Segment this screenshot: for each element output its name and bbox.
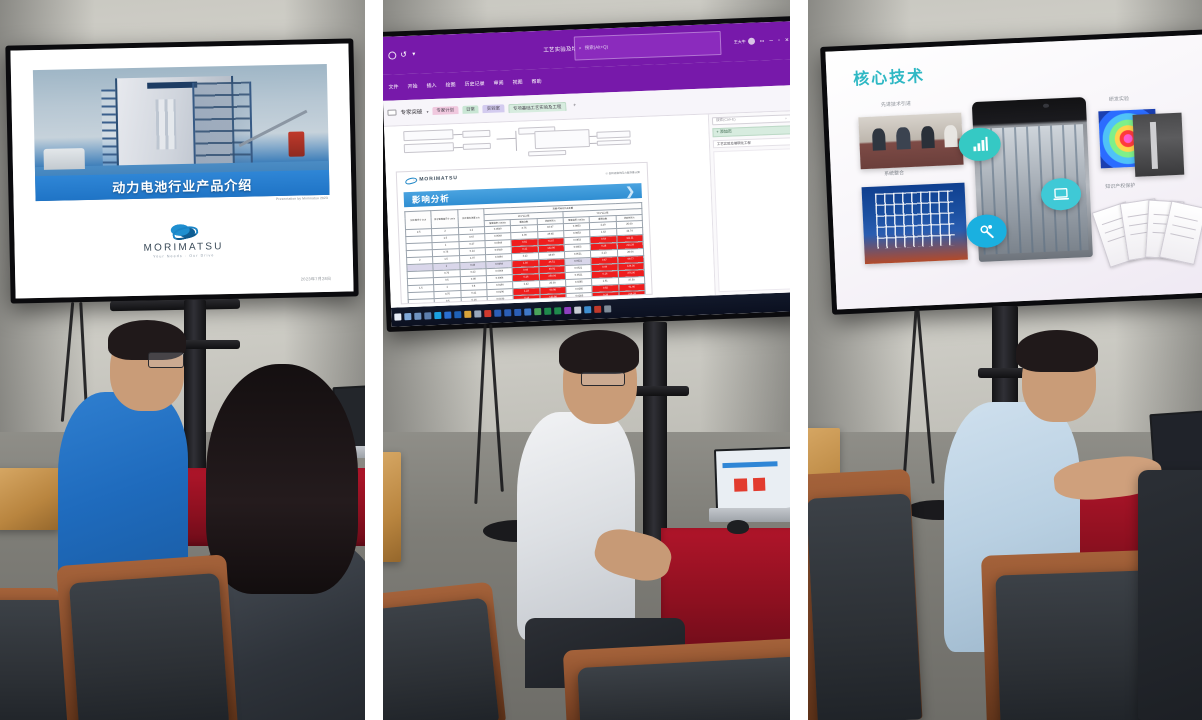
quick-access-toolbar[interactable]: ↺ ▾ [385,50,420,59]
mindmap-node[interactable] [596,139,630,146]
photo-icon[interactable] [584,306,591,313]
section-tab-1[interactable]: 日常 [461,106,478,115]
laptop-lid-2 [713,447,790,512]
mindmap-connector [590,143,596,144]
slide-section-title: 影响分析 [411,192,449,205]
section-tab-0[interactable]: 专家计划 [432,106,458,115]
mindmap-node[interactable] [462,130,490,137]
bar-chart-icon [968,134,992,153]
wooden-cabinet [0,468,60,530]
mindmap-connector [496,138,515,139]
display-screen-3: 核心技术 先进技术引进 系统整合 研发实验 知识产权保护 [825,35,1202,310]
embedded-slide-image[interactable]: MORIMATSU Your Needs · Our Drive ※ 各种规格的… [395,162,653,304]
steel-frame [875,191,955,249]
section-tab-3-active[interactable]: 专项基础工艺实验及工程 [507,102,566,113]
storage-tank [43,148,85,170]
cert-line [1170,233,1194,239]
wall-display: 动力电池行业产品介绍 Presentation by Morimatsu 202… [5,38,358,303]
meeting-figure [896,127,910,149]
morimatsu-logo: MORIMATSU Your Needs · Our Drive [14,217,353,261]
app-icon[interactable] [594,306,601,313]
edge-icon[interactable] [434,312,441,319]
search-placeholder: 搜索(Alt+Q) [584,44,608,51]
excel-icon[interactable] [544,308,551,315]
wall-display-2: ↺ ▾ 工艺实验及增稠化工程 - OneNote ⌕ 搜索(Alt+Q) 王大牛 [383,16,791,332]
meeting-figure [943,125,957,147]
download-icon[interactable] [524,308,531,315]
mindmap-node[interactable] [403,129,453,141]
ribbon-options-icon[interactable]: ▭ [759,38,764,44]
menu-item-home[interactable]: 开始 [407,83,417,90]
crane-body [288,131,305,157]
slide-photo-plant: 动力电池行业产品介绍 [33,64,330,202]
cortana-icon[interactable] [424,312,431,319]
crane [231,104,309,158]
col-header-pipe-size: 排水管尺寸 inch [404,211,431,230]
page-search-placeholder: 搜索(Ctrl+E) [715,118,735,124]
browser-icon[interactable] [574,307,581,314]
mindmap-connector [515,131,516,151]
mindmap-node[interactable] [596,130,630,138]
taskbar-spacer [614,302,787,309]
onenote-search-box[interactable]: ⌕ 搜索(Alt+Q) [573,31,721,60]
label-ip-protection: 知识产权保护 [1105,182,1135,190]
panel-divider-2 [796,0,802,720]
search-icon[interactable] [404,313,411,320]
building-windows [155,99,176,150]
building-roof [147,82,197,89]
morimatsu-wordmark: MORIMATSU [143,241,223,254]
slide-core-technology: 核心技术 先进技术引进 系统整合 研发实验 知识产权保护 [825,35,1202,310]
more-icon[interactable]: ▾ [412,50,420,58]
chevron-right-icon: ❯ [625,184,636,197]
morimatsu-tagline: Your Needs · Our Drive [153,253,214,258]
table-cell: 0.0190 [487,296,514,304]
window-controls[interactable]: 王大牛 ▭ ─ ▫ ✕ [733,37,788,46]
panel-title-slide: 动力电池行业产品介绍 Presentation by Morimatsu 202… [0,0,365,720]
label-advanced-tech: 先进技术引进 [881,100,911,108]
display-screen-2: ↺ ▾ 工艺实验及增稠化工程 - OneNote ⌕ 搜索(Alt+Q) 王大牛 [383,21,791,327]
image-certificates [1098,195,1200,266]
excel-icon[interactable] [554,307,561,314]
pdf-icon[interactable] [484,310,491,317]
table-cell: 214.29 [618,291,645,299]
label-system-integration: 系统整合 [884,170,904,178]
add-page-button[interactable]: + 添加页 [712,125,790,137]
laptop-icon [1050,185,1073,204]
mindmap-connector [590,136,596,137]
menu-item-help[interactable]: 帮助 [531,78,541,85]
slide-title: 动力电池行业产品介绍 Presentation by Morimatsu 202… [10,43,353,298]
wall-display-3: 核心技术 先进技术引进 系统整合 研发实验 知识产权保护 [820,29,1202,314]
table-cell: 0.44 [513,295,540,303]
wooden-cabinet-2 [383,452,401,562]
slide-credit: Presentation by Morimatsu 2023 [276,196,328,201]
meeting-figure [872,129,886,151]
bluetooth-icon[interactable] [444,312,451,319]
presenter-glasses-icon [581,372,625,386]
mindmap-sketch [390,116,702,168]
onenote-window: ↺ ▾ 工艺实验及增稠化工程 - OneNote ⌕ 搜索(Alt+Q) 王大牛 [383,21,791,327]
add-page-label: + 添加页 [716,129,732,136]
search-icon[interactable]: ⌕ [784,116,786,120]
start-icon[interactable] [394,313,401,320]
mouse[interactable] [727,520,749,534]
display-mount-shelf-2 [631,386,689,396]
cert-line [1172,225,1196,231]
mindmap-node-main[interactable] [533,129,590,149]
mindmap-node[interactable] [528,150,565,157]
table-cell: 0.0285 [566,293,593,301]
table-cell: 0.14 [460,297,487,304]
user-hair [1016,330,1098,372]
slide-date: 2023年7月28日 [301,276,332,283]
image-meeting [859,113,964,169]
display-screen: 动力电池行业产品介绍 Presentation by Morimatsu 202… [10,43,353,298]
panel-divider-1 [371,0,377,720]
phone-camera-icon [1043,104,1049,108]
label-rnd-experiment: 研发实验 [1109,95,1129,103]
section-tab-2[interactable]: 实验室 [482,105,503,114]
maximize-icon[interactable]: ▫ [777,37,779,43]
app-icon[interactable] [604,305,611,312]
chair-left-3 [808,493,922,720]
col-header-velocity: 排水管内流速 m/s [457,209,484,228]
image-lab-equipment [1133,113,1185,177]
page-sidebar: 搜索(Ctrl+E) ⌕ + 添加页 工艺实验及增稠化工程 [707,111,790,295]
menu-item-view[interactable]: 视图 [512,79,522,86]
undo-icon[interactable]: ↺ [400,51,408,59]
avatar[interactable] [747,38,754,45]
menu-item-review[interactable]: 审阅 [493,80,503,87]
search-icon: ⌕ [578,45,581,51]
chair-far-right-3 [1138,470,1202,720]
mindmap-connector [453,134,462,135]
menu-item-history[interactable]: 历史记录 [464,80,484,88]
taskbar-clock[interactable]: 15:52 [790,300,791,304]
chair-left-2 [383,598,499,720]
word-icon[interactable] [494,310,501,317]
table-cell: 0.29 [592,292,619,300]
photo-triptych: 动力电池行业产品介绍 Presentation by Morimatsu 202… [0,0,1202,720]
chevron-down-icon[interactable]: ▾ [426,109,428,114]
laptop-screen-bar [722,462,777,469]
cert-line [1174,216,1198,222]
man-glasses-icon [148,352,184,368]
laptop-screen-highlight [752,477,765,490]
table-cell: 0.5 [434,298,461,304]
add-section-button[interactable]: + [570,103,579,109]
wechat-icon[interactable] [534,308,541,315]
word-icon[interactable] [514,309,521,316]
slide-header-note: ※ 各种规格的压力差异量计算 [605,170,640,175]
meeting-figure [921,126,935,148]
menu-item-file[interactable]: 文件 [388,84,398,91]
menu-item-insert[interactable]: 插入 [426,82,436,89]
menu-item-draw[interactable]: 绘图 [445,81,455,88]
save-icon[interactable] [388,51,396,59]
lab-rig [1150,122,1158,169]
note-canvas[interactable]: MORIMATSU Your Needs · Our Drive ※ 各种规格的… [384,114,715,308]
panel-core-technology: 核心技术 先进技术引进 系统整合 研发实验 知识产权保护 [808,0,1202,720]
page-search-input[interactable]: 搜索(Ctrl+E) ⌕ [711,114,790,125]
laptop-screen-highlight [733,478,746,491]
laptop-screen-2 [715,448,790,510]
onenote-icon[interactable] [564,307,571,314]
page-list-empty [713,148,790,292]
presenter-hair [559,330,639,374]
slide-title-text: 动力电池行业产品介绍 [112,175,252,197]
task-view-icon[interactable] [414,313,421,320]
table-cell-group [408,299,435,304]
mindmap-node[interactable] [403,143,453,154]
user-account[interactable]: 王大牛 [733,38,754,46]
word-icon[interactable] [504,309,511,316]
mail-icon[interactable] [474,310,481,317]
mindmap-node[interactable] [462,143,490,150]
slide3-title: 核心技术 [853,63,926,90]
white-shirt-torso [517,412,635,640]
chair-right-2 [577,656,790,720]
table-body: 2.521.20.05693.7516.670.08532.4925.001.5… [405,221,645,304]
explorer-icon[interactable] [464,311,471,318]
outlook-icon[interactable] [454,311,461,318]
close-icon[interactable]: ✕ [784,37,788,43]
gear-wrench-icon [975,222,998,241]
impact-analysis-table[interactable]: 排水管尺寸 inch 排水管管道尺寸 2m/s 排水管内流速 m/s 流量-时间… [404,202,646,304]
onenote-body: MORIMATSU Your Needs · Our Drive ※ 各种规格的… [384,111,791,308]
table-cell: 142.86 [539,294,566,302]
laptop-base-2 [709,508,791,522]
notebook-toggle-icon[interactable] [387,110,396,116]
chair-center [69,573,229,720]
notebook-name[interactable]: 专家突破 [400,108,422,117]
panel-onenote: ↺ ▾ 工艺实验及增稠化工程 - OneNote ⌕ 搜索(Alt+Q) 王大牛 [383,0,791,720]
user-name: 王大牛 [733,39,745,45]
morimatsu-mark-icon [168,220,198,241]
col-header-pipe-dim: 排水管管道尺寸 2m/s [431,210,458,229]
mindmap-connector [453,147,462,148]
minimize-icon[interactable]: ─ [769,38,773,44]
page-list-item[interactable]: 工艺实验及增稠化工程 [712,137,790,148]
display-stand-column-2 [643,322,667,552]
woman-hair [206,364,358,594]
image-structure [862,182,968,264]
